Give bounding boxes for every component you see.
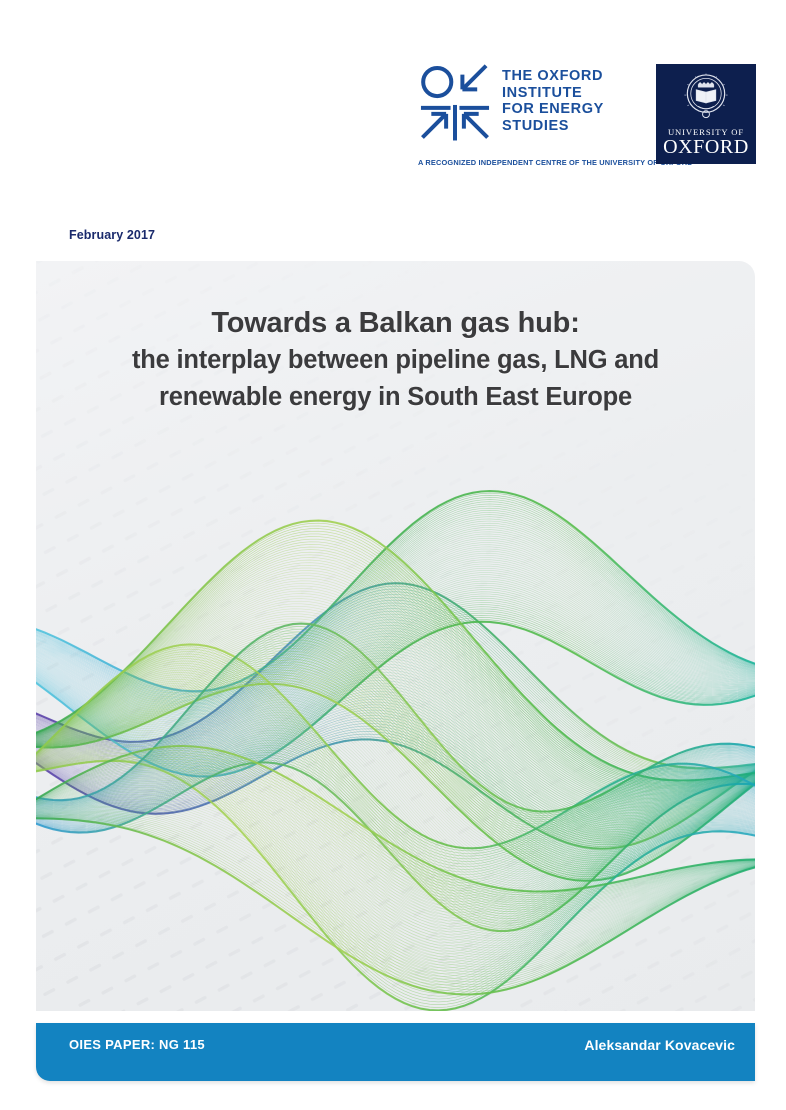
author-label: Aleksandar Kovacevic (584, 1037, 735, 1053)
page-header: THE OXFORD INSTITUTE FOR ENERGY STUDIES … (0, 0, 786, 200)
oies-logo-icon (418, 62, 492, 142)
oies-wordmark: THE OXFORD INSTITUTE FOR ENERGY STUDIES (502, 68, 604, 134)
oies-name-line-2: INSTITUTE (502, 85, 604, 102)
publication-date: February 2017 (69, 228, 155, 242)
oies-tagline: A RECOGNIZED INDEPENDENT CENTRE OF THE U… (418, 158, 693, 167)
title-main: Towards a Balkan gas hub: (52, 306, 739, 340)
footer-bar: OIES PAPER: NG 115 Aleksandar Kovacevic (36, 1023, 755, 1081)
cover-art-panel: Towards a Balkan gas hub: the interplay … (36, 261, 755, 1011)
cover-title-block: Towards a Balkan gas hub: the interplay … (36, 306, 755, 414)
oxford-logo-block: UNIVERSITY OF OXFORD (656, 64, 756, 164)
oies-logo-block: THE OXFORD INSTITUTE FOR ENERGY STUDIES (418, 62, 604, 142)
title-sub-line-1: the interplay between pipeline gas, LNG … (52, 344, 739, 377)
oies-name-line-1: THE OXFORD (502, 68, 604, 85)
title-sub-line-2: renewable energy in South East Europe (52, 381, 739, 414)
oxford-crest-icon (681, 71, 731, 125)
paper-number-label: OIES PAPER: NG 115 (69, 1037, 205, 1052)
oies-name-line-4: STUDIES (502, 118, 604, 135)
oxford-wordmark: OXFORD (656, 136, 756, 159)
oies-name-line-3: FOR ENERGY (502, 101, 604, 118)
